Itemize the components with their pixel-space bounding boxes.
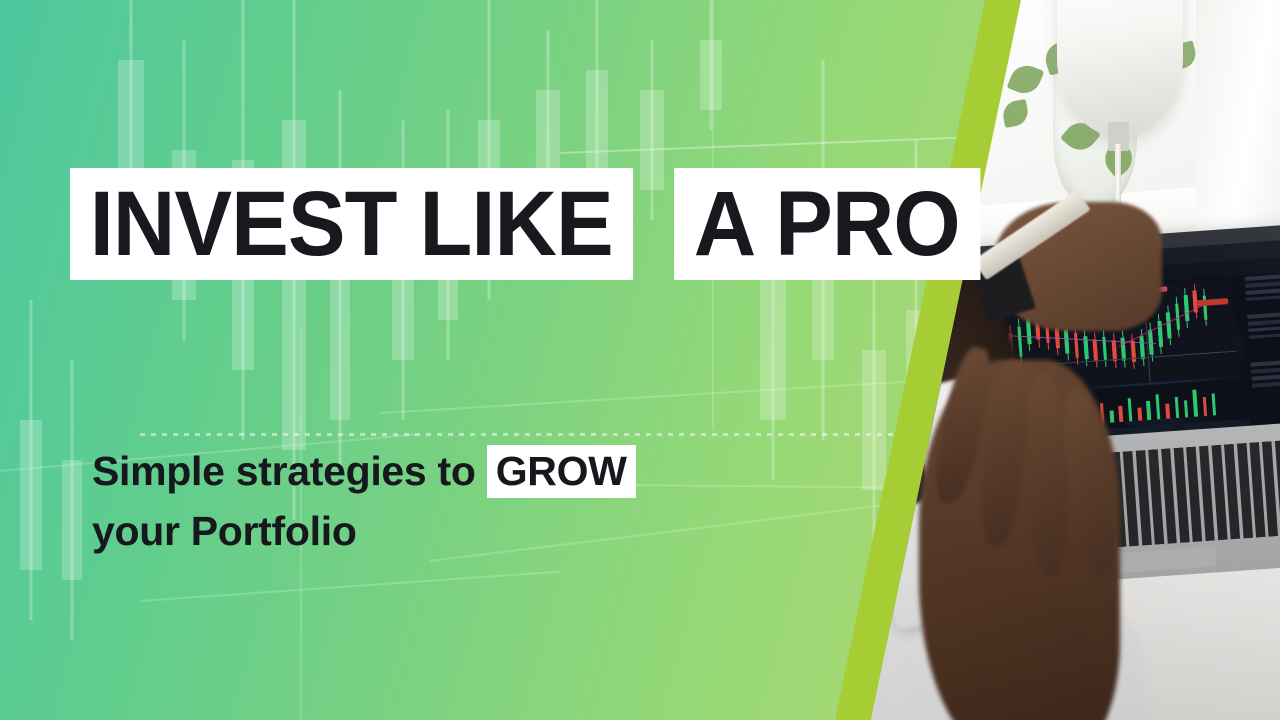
candle-bar (62, 360, 82, 640)
headline: INVEST LIKE A PRO (70, 155, 1000, 280)
subtitle-before: Simple strategies to (92, 448, 487, 494)
trend-line (380, 379, 939, 414)
candle-bar (330, 90, 350, 470)
promo-banner: INVEST LIKE A PRO Simple strategies to G… (0, 0, 1280, 720)
headline-line-2: A PRO (674, 168, 980, 280)
trend-line (140, 571, 559, 602)
candle-bar (20, 300, 42, 620)
subtitle-highlight: GROW (487, 445, 636, 498)
candle-bar (700, 0, 722, 130)
subtitle: Simple strategies to GROW your Portfolio (92, 441, 852, 561)
subtitle-after: your Portfolio (92, 508, 357, 554)
headline-line-1: INVEST LIKE (70, 168, 633, 280)
dotted-reference-line (140, 433, 940, 436)
